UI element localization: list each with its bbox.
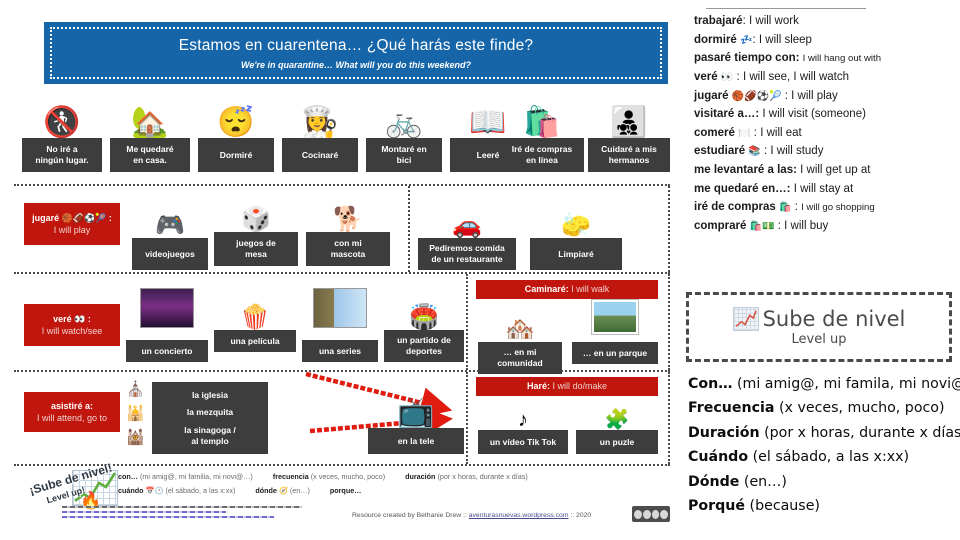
extras-label-duracion: duración — [405, 472, 435, 481]
vocab-sep: : — [754, 127, 757, 139]
jugare-label-translation: I will play — [54, 224, 91, 236]
credit-prefix: Resource created by Bethanie Drew :: — [352, 512, 469, 519]
popcorn-clapperboard-icon: 🍿 — [240, 288, 270, 330]
asistire-label: asistiré a: I will attend, go to — [24, 392, 120, 432]
extras-line-2: cuándo 📅🕐 (el sábado, a las x:xx) dónde … — [118, 484, 558, 498]
eyes-icon: 👀 — [721, 72, 733, 83]
column-separator-row4-right — [668, 372, 670, 464]
question-example: (por x horas, durante x días — [764, 425, 960, 441]
activity-card[interactable]: 🚷 No iré a ningún lugar. — [22, 96, 102, 172]
vocab-sep: : — [778, 220, 781, 232]
activity-card[interactable]: 🏡 Me quedaré en casa. — [110, 96, 190, 172]
vocab-translation: I will go shopping — [801, 202, 875, 213]
extras-value-cuando: 📅🕐 (el sábado, a las x:xx) — [146, 486, 236, 495]
hare-bar-translation: I will do/make — [553, 381, 608, 391]
sleep-zzz-icon: 💤 — [740, 35, 752, 46]
vocab-sep: : — [737, 71, 740, 83]
sports-balls-icon: 🏀🏈⚽🎾 — [732, 91, 782, 102]
vocab-translation: I will get up at — [800, 164, 870, 176]
tv-card[interactable]: 📺 en la tele — [368, 386, 464, 454]
plate-cutlery-icon: 🍽️ — [738, 128, 750, 139]
shopping-bags-icon: 🛍️ — [779, 202, 791, 213]
activity-label: juegos de mesa — [214, 232, 298, 266]
extras-line-1: con… (mi amig@, mi familia, mi novi@…) f… — [118, 470, 558, 484]
level-up-title: Sube de nivel — [763, 307, 906, 331]
question-example: (mi amig@, mi famila, mi novi@) — [737, 376, 960, 392]
scribble-line-3 — [62, 516, 274, 518]
vere-label-spanish: veré 👀 : — [53, 313, 91, 325]
credit-line: Resource created by Bethanie Drew :: ave… — [352, 512, 591, 519]
vere-label: veré 👀 : I will watch/see — [24, 304, 120, 346]
jugare-label: jugaré 🏀🏈⚽🎾 : I will play — [24, 203, 120, 245]
activity-label: una película — [214, 330, 296, 352]
activity-label: videojuegos — [132, 238, 208, 270]
question-label: Con… — [688, 376, 732, 392]
books-icon: 📚 — [748, 146, 760, 157]
credit-suffix: :: 2020 — [569, 512, 592, 519]
activity-label: un vídeo Tik Tok — [478, 430, 568, 454]
neighborhood-icon: 🏘️ — [505, 300, 535, 342]
scribble-line-2 — [62, 511, 226, 513]
place-option: la iglesia — [192, 390, 228, 401]
synagogue-icon: 🕍 — [126, 428, 148, 452]
activity-label: con mi mascota — [306, 232, 390, 266]
place-option: la mezquita — [187, 407, 233, 418]
activity-label: un partido de deportes — [384, 330, 464, 362]
extras-text: con… (mi amig@, mi familia, mi novi@…) f… — [118, 470, 558, 497]
vocab-row: dormiré 💤: I will sleep — [694, 31, 960, 50]
vocab-row: iré de compras 🛍️ : I will go shopping — [694, 198, 960, 217]
activity-card[interactable]: una series — [302, 288, 378, 362]
activity-label: Montaré en bici — [366, 138, 442, 172]
church-icon: ⛪ — [126, 380, 148, 404]
column-separator-row3 — [466, 274, 468, 370]
vocab-row: compraré 🛍️💵 : I will buy — [694, 217, 960, 236]
activity-card[interactable]: 🚗 Pediremos comida de un restaurante — [418, 196, 516, 270]
extras-value-con: (mi amig@, mi familia, mi novi@…) — [140, 472, 253, 481]
sleeping-face-icon: 😴 — [217, 96, 254, 138]
asistire-label-translation: I will attend, go to — [37, 412, 107, 424]
extras-value-donde: 🧭 (en…) — [279, 486, 310, 495]
extras-label-porque: porque… — [330, 486, 362, 495]
question-label: Cuándo — [688, 449, 748, 465]
hare-bar-spanish: Haré: — [527, 381, 550, 391]
title-banner: Estamos en cuarentena… ¿Qué harás este f… — [44, 22, 668, 84]
mosque-icon: 🕌 — [126, 404, 148, 428]
question-row: Dónde (en…) — [688, 470, 960, 494]
question-row: Porqué (because) — [688, 494, 960, 518]
cleaning-icon: 🧽 — [561, 196, 591, 238]
credit-link[interactable]: aventurasnuevas.wordpress.com — [469, 512, 569, 519]
scribble-lines — [62, 506, 302, 521]
vocab-term: veré — [694, 71, 718, 83]
question-example: (because) — [750, 498, 820, 514]
activity-card[interactable]: 👨‍👧‍👦 Cuidaré a mis hermanos — [588, 96, 670, 172]
question-row: Frecuencia (x veces, mucho, poco) — [688, 396, 960, 420]
activity-card[interactable]: 🧩 un puzle — [576, 396, 658, 454]
vocab-translation: I will study — [770, 145, 823, 157]
question-label: Frecuencia — [688, 400, 774, 416]
question-row: Duración (por x horas, durante x días — [688, 421, 960, 445]
activity-card[interactable]: 🎲 juegos de mesa — [214, 190, 298, 266]
vocab-term: visitaré a…: — [694, 108, 759, 120]
vocab-sep: : — [743, 15, 746, 27]
scribble-line-1 — [62, 506, 302, 508]
vocab-term: estudiaré — [694, 145, 745, 157]
park-photo-icon — [592, 300, 638, 334]
vocab-term: compraré — [694, 220, 746, 232]
activity-label: Me quedaré en casa. — [110, 138, 190, 172]
vocab-list: trabajaré: I will work dormiré 💤: I will… — [694, 12, 960, 236]
vocab-sep: : — [785, 90, 788, 102]
caminare-bar: Caminaré: I will walk — [476, 280, 658, 299]
row-separator-2 — [14, 272, 670, 274]
activity-label: Pediremos comida de un restaurante — [418, 238, 516, 270]
worksheet-area: Estamos en cuarentena… ¿Qué harás este f… — [0, 0, 684, 540]
vocab-term: pasaré tiempo con: — [694, 52, 799, 64]
question-row: Con… (mi amig@, mi famila, mi novi@) — [688, 372, 960, 396]
vocab-divider — [706, 8, 866, 9]
extras-label-con: con… — [118, 472, 138, 481]
places-icon-column: ⛪ 🕌 🕍 — [126, 380, 148, 452]
board-games-icon: 🎲 — [241, 190, 271, 232]
food-delivery-icon: 🚗 — [452, 196, 482, 238]
extras-label-donde: dónde — [255, 486, 277, 495]
no-exit-icon: 🚷 — [43, 96, 80, 138]
upward-chart-icon — [733, 307, 759, 331]
question-row: Cuándo (el sábado, a las x:xx) — [688, 445, 960, 469]
activity-card[interactable]: 🍿 una película — [214, 288, 296, 352]
house-with-garden-icon: 🏡 — [131, 96, 168, 138]
vocab-translation: I will visit (someone) — [762, 108, 866, 120]
vocab-row: estudiaré 📚 : I will study — [694, 142, 960, 161]
activity-card[interactable]: 😴 Dormiré — [198, 96, 274, 172]
activity-label: … en un parque — [572, 342, 658, 364]
vocab-row: pasaré tiempo con: I will hang out with — [694, 49, 960, 68]
row-separator-4 — [14, 464, 670, 466]
activity-card[interactable]: ♪ un vídeo Tik Tok — [478, 396, 568, 454]
jugare-label-spanish: jugaré 🏀🏈⚽🎾 : — [32, 212, 112, 224]
television-icon: 📺 — [397, 386, 434, 428]
vocab-row: veré 👀 : I will see, I will watch — [694, 68, 960, 87]
vocab-term: me quedaré en…: — [694, 183, 791, 195]
place-option: la sinagoga / al templo — [184, 425, 236, 446]
tiktok-icon: ♪ — [518, 396, 528, 430]
vocab-translation: I will work — [749, 15, 799, 27]
vocab-sep: : — [795, 201, 798, 213]
vocab-translation: I will hang out with — [803, 53, 881, 64]
activity-card[interactable]: 🏟️ un partido de deportes — [384, 288, 464, 362]
activity-label: … en mi comunidad — [478, 342, 562, 374]
activity-label: Limpiaré — [530, 238, 622, 270]
activity-card[interactable]: 🛍️ Iré de compras en línea — [500, 96, 584, 172]
game-controller-icon: 🎮 — [155, 196, 185, 238]
vocab-translation: I will buy — [784, 220, 828, 232]
vocab-term: iré de compras — [694, 201, 776, 213]
activity-card[interactable]: un concierto — [126, 288, 208, 362]
activity-label: un concierto — [126, 340, 208, 362]
tv-series-poster-icon — [313, 288, 367, 328]
question-label: Dónde — [688, 474, 739, 490]
shopping-laptop-icon: 🛍️ — [523, 96, 560, 138]
activity-card[interactable]: 🚲 Montaré en bici — [366, 96, 442, 172]
bicycle-icon: 🚲 — [385, 96, 422, 138]
question-example: (el sábado, a las x:xx) — [753, 449, 909, 465]
vocab-term: jugaré — [694, 90, 729, 102]
vocab-row: me quedaré en…: I will stay at — [694, 180, 960, 199]
creative-commons-icon — [632, 506, 670, 522]
vocab-translation: I will see, I will watch — [743, 71, 849, 83]
vocab-row: comeré 🍽️ : I will eat — [694, 124, 960, 143]
stadium-icon: 🏟️ — [409, 288, 439, 330]
extras-label-frecuencia: frecuencia — [273, 472, 309, 481]
activity-label: Cuidaré a mis hermanos — [588, 138, 670, 172]
vocab-row: jugaré 🏀🏈⚽🎾 : I will play — [694, 87, 960, 106]
vocab-translation: I will stay at — [794, 183, 853, 195]
vocab-term: trabajaré — [694, 15, 743, 27]
caminare-bar-spanish: Caminaré: — [525, 284, 569, 294]
activity-card[interactable]: 🏘️ … en mi comunidad — [478, 300, 562, 374]
cook-icon: 👩‍🍳 — [301, 96, 338, 138]
vocab-translation: I will play — [791, 90, 838, 102]
level-up-title-row: Sube de nivel — [733, 307, 906, 331]
activity-label: Dormiré — [198, 138, 274, 172]
extras-value-frecuencia: (x veces, mucho, poco) — [311, 472, 385, 481]
shopping-money-icon: 🛍️💵 — [750, 221, 775, 232]
activity-card[interactable]: 🐕 con mi mascota — [306, 190, 390, 266]
puzzle-piece-icon: 🧩 — [605, 396, 630, 430]
vocab-row: visitaré a…: I will visit (someone) — [694, 105, 960, 124]
question-words-list: Con… (mi amig@, mi famila, mi novi@) Fre… — [688, 372, 960, 519]
column-separator-row2 — [408, 186, 410, 272]
question-label: Duración — [688, 425, 760, 441]
vocab-term: comeré — [694, 127, 735, 139]
vocab-term: me levantaré a las: — [694, 164, 797, 176]
vocab-term: dormiré — [694, 34, 737, 46]
vocab-row: me levantaré a las: I will get up at — [694, 161, 960, 180]
vocab-sep: : — [764, 145, 767, 157]
column-separator-row2-right — [668, 186, 670, 272]
hare-bar: Haré: I will do/make — [476, 377, 658, 396]
row-separator-1 — [14, 184, 670, 186]
activity-label: una series — [302, 340, 378, 362]
vocab-translation: I will eat — [760, 127, 802, 139]
activity-card[interactable]: 👩‍🍳 Cocinaré — [282, 96, 358, 172]
activity-label: un puzle — [576, 430, 658, 454]
question-example: (en…) — [744, 474, 787, 490]
question-example: (x veces, mucho, poco) — [779, 400, 945, 416]
column-separator-row3-right — [668, 274, 670, 370]
activity-card[interactable]: 🧽 Limpiaré — [530, 196, 622, 270]
extras-label-cuando: cuándo — [118, 486, 144, 495]
question-label: Porqué — [688, 498, 745, 514]
places-label-box[interactable]: la iglesia la mezquita la sinagoga / al … — [152, 382, 268, 454]
activity-label: en la tele — [368, 428, 464, 454]
banner-title: Estamos en cuarentena… ¿Qué harás este f… — [179, 37, 534, 55]
vocab-row: trabajaré: I will work — [694, 12, 960, 31]
pet-dog-icon: 🐕 — [333, 190, 363, 232]
activity-label: No iré a ningún lugar. — [22, 138, 102, 172]
vocab-translation: I will sleep — [759, 34, 812, 46]
activity-card[interactable]: 🎮 videojuegos — [132, 196, 208, 270]
family-icon: 👨‍👧‍👦 — [610, 96, 647, 138]
caminare-bar-translation: I will walk — [571, 284, 609, 294]
level-up-subtitle: Level up — [792, 332, 847, 347]
activity-label: Cocinaré — [282, 138, 358, 172]
worksheet-page: Estamos en cuarentena… ¿Qué harás este f… — [0, 0, 960, 540]
asistire-label-spanish: asistiré a: — [51, 400, 93, 412]
extras-value-duracion: (por x horas, durante x días) — [437, 472, 527, 481]
level-up-box: Sube de nivel Level up — [686, 292, 952, 362]
concert-stage-icon — [140, 288, 194, 328]
vere-label-translation: I will watch/see — [42, 325, 103, 337]
banner-subtitle: We're in quarantine… What will you do th… — [241, 60, 471, 70]
activity-label: Iré de compras en línea — [500, 138, 584, 172]
vocab-sep: : — [752, 34, 755, 46]
activity-card[interactable]: … en un parque — [572, 300, 658, 364]
